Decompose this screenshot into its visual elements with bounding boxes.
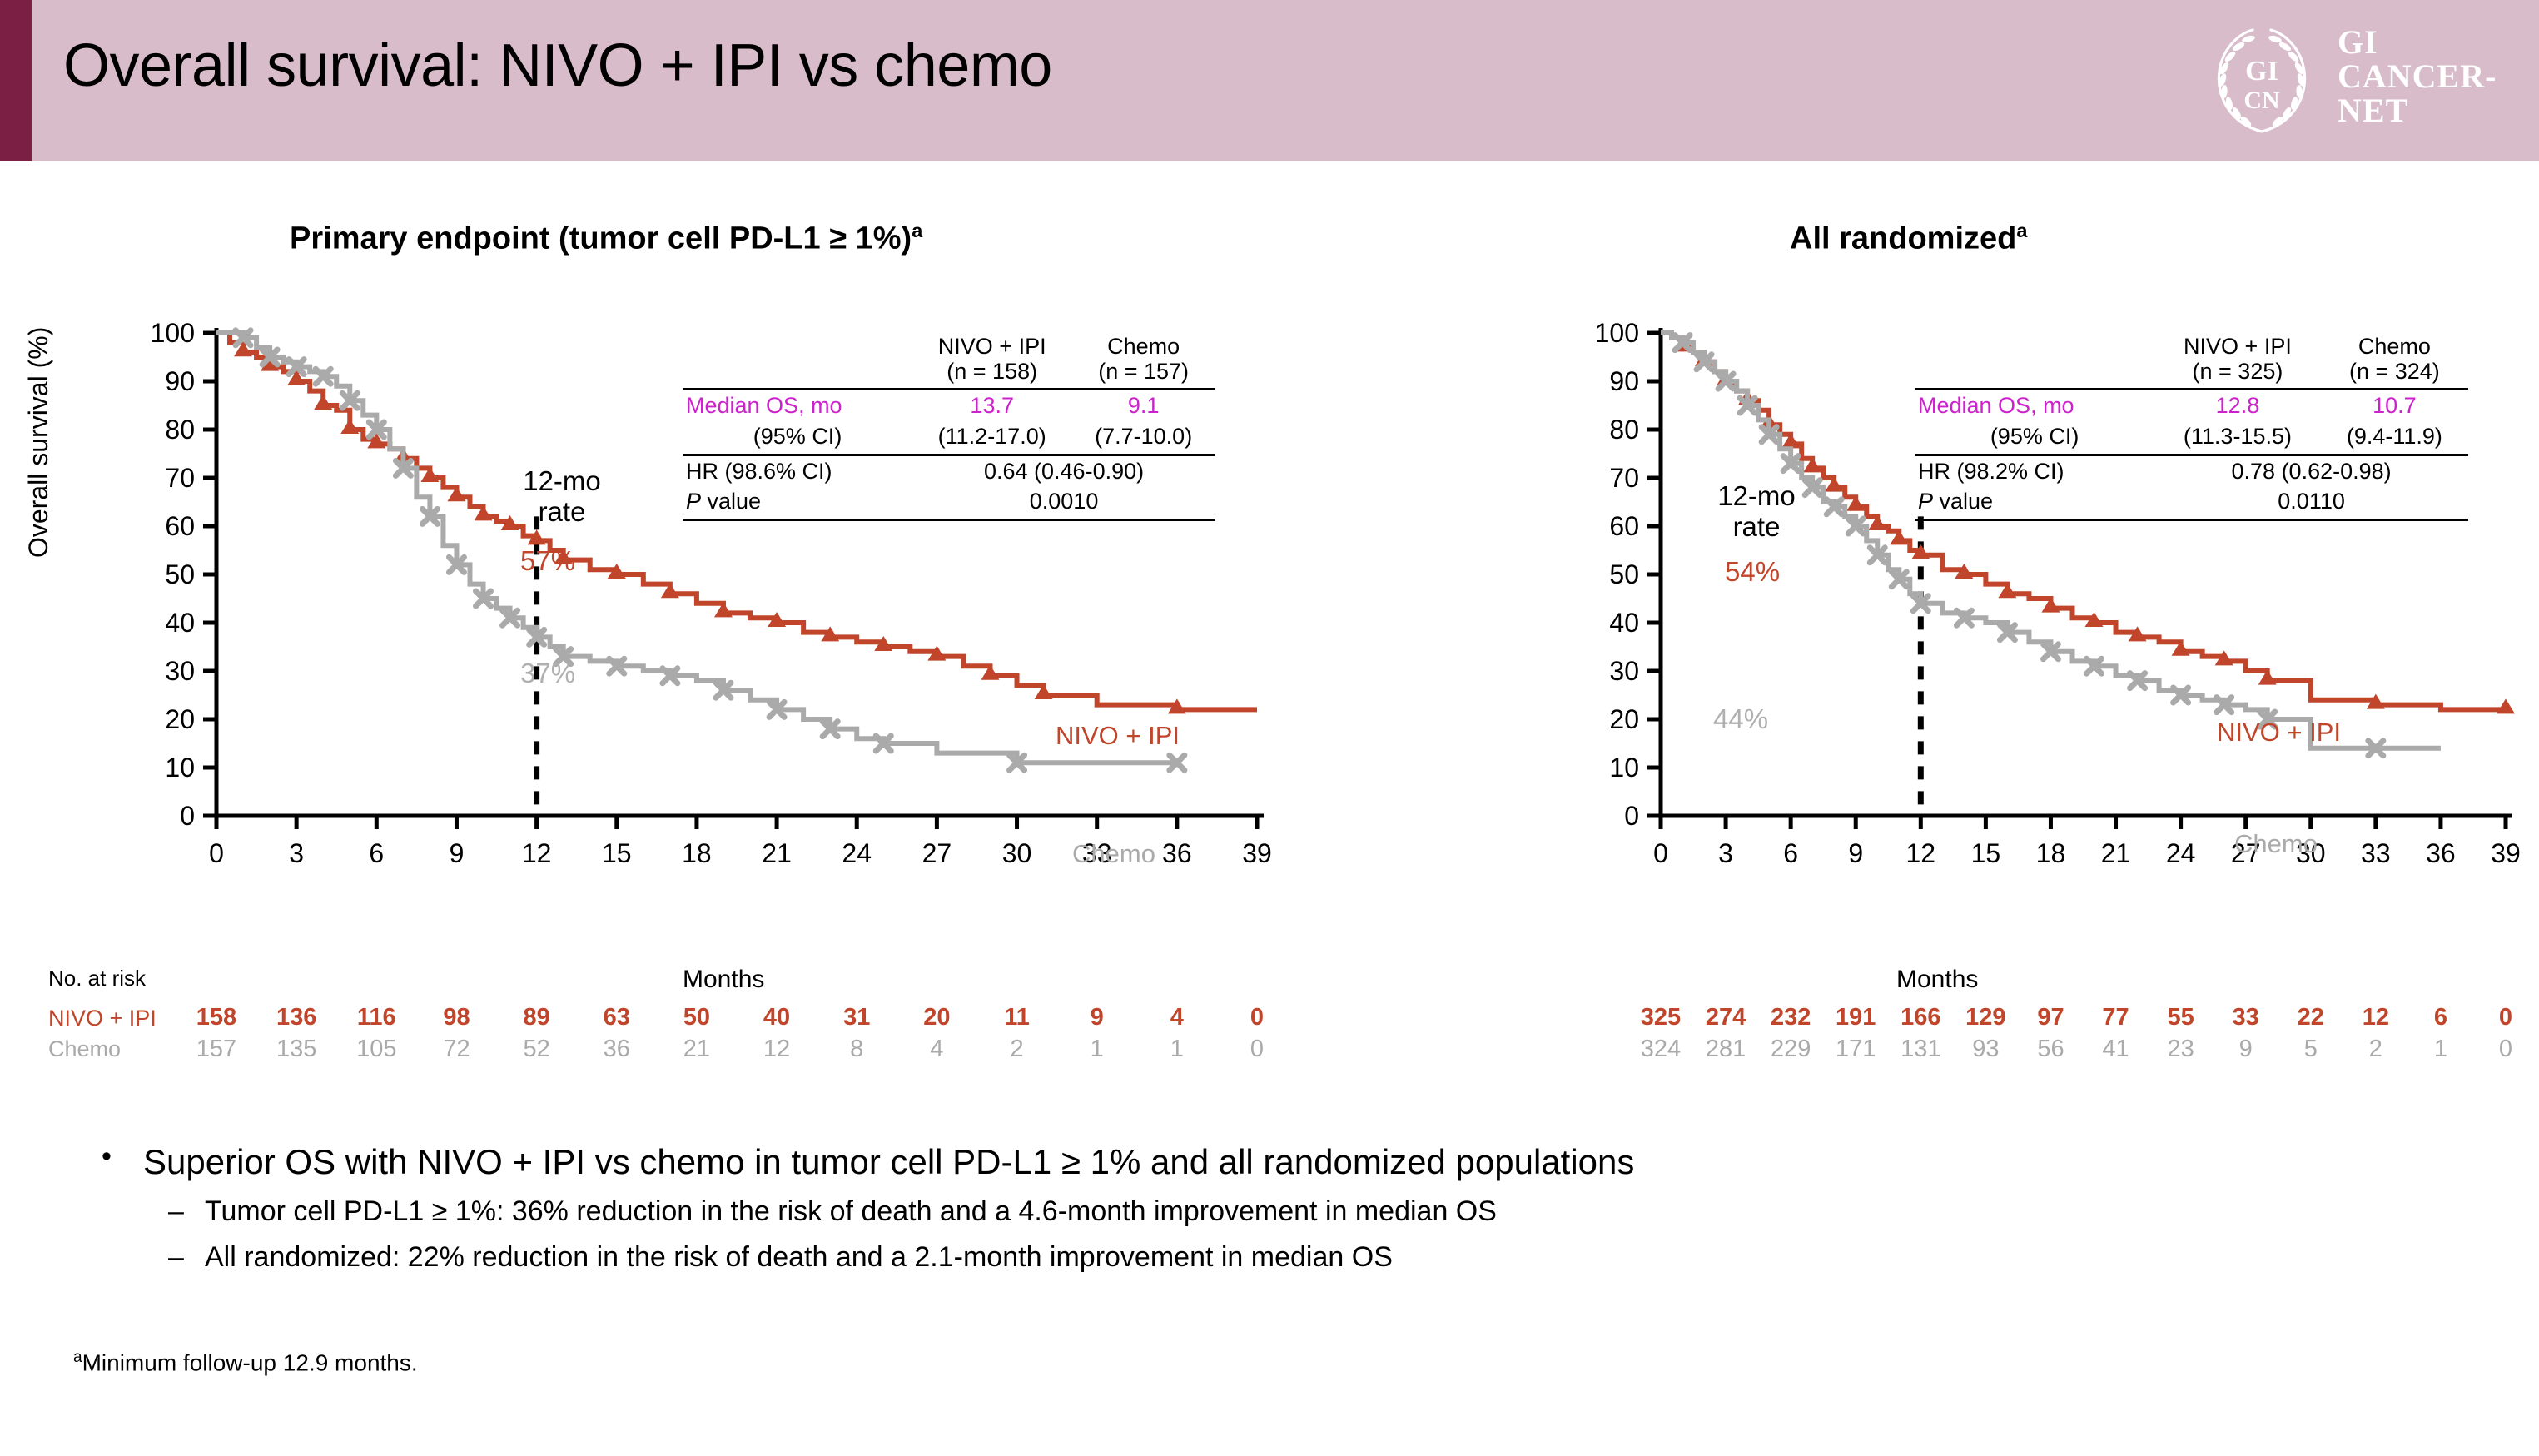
stats-header-chemo-name-right: Chemo <box>2358 334 2431 359</box>
svg-text:CN: CN <box>2243 87 2280 114</box>
stats-row-hr-right: HR (98.2% CI) 0.78 (0.62-0.98) <box>1915 455 2468 486</box>
x-tick-label: 24 <box>2166 838 2196 868</box>
stats-ci-label-right: (95% CI) <box>1915 421 2154 455</box>
risk-value-nivo: 129 <box>1965 1004 2005 1031</box>
x-tick-label: 39 <box>2491 838 2521 868</box>
bullet-list: Superior OS with NIVO + IPI vs chemo in … <box>92 1142 2339 1287</box>
risk-row-label-chemo: Chemo <box>48 1036 121 1062</box>
risk-value-nivo: 6 <box>2434 1004 2447 1031</box>
risk-value-chemo: 1 <box>1091 1036 1104 1063</box>
risk-value-nivo: 136 <box>276 1004 316 1031</box>
risk-value-chemo: 4 <box>930 1036 943 1063</box>
x-tick-label: 33 <box>2361 838 2391 868</box>
stats-median-os-chemo-left: 9.1 <box>1071 390 1215 421</box>
stats-ci-nivo-left: (11.2-17.0) <box>912 421 1071 455</box>
risk-value-nivo: 63 <box>604 1004 630 1031</box>
risk-value-chemo: 56 <box>2037 1036 2064 1063</box>
y-tick-label: 0 <box>1624 801 1639 831</box>
stats-pvalue-label-right: P value <box>1915 486 2154 520</box>
risk-value-nivo: 22 <box>2298 1004 2324 1031</box>
panel-title-left-superscript: a <box>912 220 922 241</box>
panel-title-right-superscript: a <box>2016 220 2027 241</box>
risk-value-nivo: 77 <box>2102 1004 2129 1031</box>
risk-value-nivo: 191 <box>1836 1004 1876 1031</box>
stats-header-nivo-name-left: NIVO + IPI <box>938 334 1046 359</box>
x-tick-label: 3 <box>289 838 304 868</box>
risk-value-nivo: 40 <box>763 1004 790 1031</box>
annotation-chemo-rate-left: 37% <box>520 658 575 689</box>
risk-value-nivo: 33 <box>2233 1004 2259 1031</box>
censor-marker-triangle <box>340 419 359 434</box>
gi-cancer-net-logo: GI CN GI CANCER- NET <box>2206 20 2514 145</box>
y-tick-label: 70 <box>1609 463 1639 493</box>
x-tick-label: 15 <box>602 838 632 868</box>
y-tick-label: 40 <box>1609 608 1639 638</box>
stats-pvalue-label-italic-right: P <box>1918 489 1933 514</box>
y-tick-label: 60 <box>1609 511 1639 541</box>
risk-value-chemo: 12 <box>763 1036 790 1063</box>
risk-value-nivo: 89 <box>523 1004 549 1031</box>
risk-value-nivo: 50 <box>683 1004 710 1031</box>
header-bar: Overall survival: NIVO + IPI vs chemo <box>0 0 2539 161</box>
risk-value-chemo: 105 <box>356 1036 396 1063</box>
stats-header-row-right: NIVO + IPI (n = 325) Chemo (n = 324) <box>1915 331 2468 390</box>
risk-value-chemo: 229 <box>1771 1036 1811 1063</box>
stats-pvalue-value-right: 0.0110 <box>2154 486 2468 520</box>
stats-pvalue-label-left: P value <box>683 486 912 520</box>
stats-hr-value-left: 0.64 (0.46-0.90) <box>912 455 1215 486</box>
x-tick-label: 36 <box>1162 838 1192 868</box>
x-tick-label: 27 <box>922 838 952 868</box>
curve-label-chemo-right: Chemo <box>2234 829 2318 859</box>
x-tick-label: 12 <box>1906 838 1936 868</box>
annotation-chemo-rate-right: 44% <box>1713 703 1768 735</box>
risk-value-chemo: 41 <box>2102 1036 2129 1063</box>
risk-value-chemo: 0 <box>1250 1036 1264 1063</box>
x-axis-label-left: Months <box>683 966 764 994</box>
risk-value-nivo: 31 <box>843 1004 870 1031</box>
y-tick-label: 20 <box>165 704 195 734</box>
panel-title-right: All randomizeda <box>1790 220 2027 257</box>
stats-header-nivo-left: NIVO + IPI (n = 158) <box>912 331 1071 390</box>
y-tick-label: 40 <box>165 608 195 638</box>
stats-median-os-label-left: Median OS, mo <box>683 390 912 421</box>
stats-header-chemo-n-right: (n = 324) <box>2349 359 2440 384</box>
risk-value-nivo: 158 <box>196 1004 236 1031</box>
annotation-12mo-rate-left: 12-mo rate <box>487 466 637 528</box>
risk-value-nivo: 0 <box>1250 1004 1264 1031</box>
page-title: Overall survival: NIVO + IPI vs chemo <box>63 32 1052 100</box>
risk-value-nivo: 0 <box>2499 1004 2512 1031</box>
bullet-sub-1: Tumor cell PD-L1 ≥ 1%: 36% reduction in … <box>92 1195 2339 1228</box>
footnote: aMinimum follow-up 12.9 months. <box>73 1349 418 1376</box>
logo-line-3: NET <box>2338 93 2497 127</box>
bullet-main: Superior OS with NIVO + IPI vs chemo in … <box>92 1142 2339 1182</box>
y-tick-label: 50 <box>165 559 195 589</box>
risk-value-chemo: 93 <box>1972 1036 1999 1063</box>
y-tick-label: 80 <box>165 415 195 445</box>
x-tick-label: 9 <box>450 838 465 868</box>
x-tick-label: 3 <box>1718 838 1733 868</box>
y-tick-label: 90 <box>1609 366 1639 396</box>
stats-header-blank-right <box>1915 331 2154 390</box>
annotation-nivo-rate-left: 57% <box>520 545 575 577</box>
risk-value-nivo: 98 <box>443 1004 470 1031</box>
stats-pvalue-label-rest-left: value <box>701 489 761 514</box>
panel-title-left-text: Primary endpoint (tumor cell PD-L1 ≥ 1%) <box>290 221 912 256</box>
stats-ci-chemo-right: (9.4-11.9) <box>2321 421 2468 455</box>
y-tick-label: 80 <box>1609 415 1639 445</box>
stats-header-nivo-name-right: NIVO + IPI <box>2184 334 2292 359</box>
svg-text:GI: GI <box>2245 56 2278 87</box>
y-axis-label-left: Overall survival (%) <box>23 327 54 558</box>
header-accent-stripe <box>0 0 32 161</box>
y-tick-label: 10 <box>165 753 195 783</box>
risk-value-chemo: 72 <box>443 1036 470 1063</box>
risk-value-chemo: 157 <box>196 1036 236 1063</box>
stats-pvalue-label-italic-left: P <box>686 489 701 514</box>
stats-pvalue-label-rest-right: value <box>1933 489 1993 514</box>
curve-label-nivo-left: NIVO + IPI <box>1056 721 1180 751</box>
risk-value-nivo: 12 <box>2363 1004 2389 1031</box>
footnote-text: Minimum follow-up 12.9 months. <box>82 1349 418 1375</box>
risk-value-nivo: 116 <box>357 1004 396 1031</box>
stats-ci-nivo-right: (11.3-15.5) <box>2154 421 2321 455</box>
y-tick-label: 0 <box>180 801 195 831</box>
stats-header-row-left: NIVO + IPI (n = 158) Chemo (n = 157) <box>683 331 1215 390</box>
logo-line-1: GI <box>2338 25 2497 59</box>
risk-value-nivo: 166 <box>1901 1004 1940 1031</box>
annotation-12mo-line2-left: rate <box>487 497 637 528</box>
risk-value-chemo: 281 <box>1706 1036 1746 1063</box>
risk-value-chemo: 131 <box>1901 1036 1940 1063</box>
risk-value-nivo: 274 <box>1706 1004 1746 1031</box>
stats-table-right: NIVO + IPI (n = 325) Chemo (n = 324) Med… <box>1915 331 2468 521</box>
curve-label-nivo-right: NIVO + IPI <box>2217 718 2341 748</box>
risk-value-nivo: 55 <box>2167 1004 2194 1031</box>
y-tick-label: 30 <box>165 656 195 686</box>
logo-wordmark: GI CANCER- NET <box>2338 25 2497 128</box>
risk-value-chemo: 324 <box>1641 1036 1681 1063</box>
stats-median-os-chemo-right: 10.7 <box>2321 390 2468 421</box>
logo-line-2: CANCER- <box>2338 59 2497 93</box>
stats-header-nivo-right: NIVO + IPI (n = 325) <box>2154 331 2321 390</box>
y-tick-label: 100 <box>151 318 195 348</box>
x-tick-label: 6 <box>369 838 384 868</box>
laurel-wreath-icon: GI CN <box>2206 25 2318 140</box>
stats-header-nivo-n-right: (n = 325) <box>2193 359 2283 384</box>
x-tick-label: 12 <box>522 838 552 868</box>
panel-title-right-text: All randomized <box>1790 221 2016 256</box>
risk-value-nivo: 97 <box>2037 1004 2064 1031</box>
stats-hr-label-right: HR (98.2% CI) <box>1915 455 2154 486</box>
risk-value-nivo: 20 <box>923 1004 950 1031</box>
x-tick-label: 21 <box>2101 838 2131 868</box>
y-tick-label: 70 <box>165 463 195 493</box>
x-tick-label: 6 <box>1783 838 1798 868</box>
x-tick-label: 36 <box>2426 838 2456 868</box>
footnote-superscript: a <box>73 1349 82 1366</box>
x-tick-label: 9 <box>1848 838 1863 868</box>
annotation-12mo-rate-right: 12-mo rate <box>1682 481 1831 543</box>
x-tick-label: 18 <box>682 838 712 868</box>
annotation-12mo-line1-left: 12-mo <box>487 466 637 497</box>
stats-median-os-nivo-right: 12.8 <box>2154 390 2321 421</box>
stats-header-chemo-left: Chemo (n = 157) <box>1071 331 1215 390</box>
stats-row-ci-right: (95% CI) (11.3-15.5) (9.4-11.9) <box>1915 421 2468 455</box>
risk-value-chemo: 23 <box>2167 1036 2194 1063</box>
y-tick-label: 60 <box>165 511 195 541</box>
stats-median-os-nivo-left: 13.7 <box>912 390 1071 421</box>
x-tick-label: 30 <box>1002 838 1032 868</box>
bullet-sub-2: All randomized: 22% reduction in the ris… <box>92 1241 2339 1274</box>
annotation-12mo-line1-right: 12-mo <box>1682 481 1831 512</box>
risk-value-chemo: 9 <box>2239 1036 2253 1063</box>
risk-value-nivo: 232 <box>1771 1004 1811 1031</box>
x-tick-label: 15 <box>1971 838 2001 868</box>
risk-value-chemo: 135 <box>276 1036 316 1063</box>
panel-title-left: Primary endpoint (tumor cell PD-L1 ≥ 1%)… <box>290 220 922 257</box>
stats-ci-label-left: (95% CI) <box>683 421 912 455</box>
risk-value-nivo: 9 <box>1091 1004 1104 1031</box>
risk-value-chemo: 5 <box>2304 1036 2318 1063</box>
risk-value-nivo: 11 <box>1004 1004 1030 1031</box>
risk-value-chemo: 36 <box>604 1036 630 1063</box>
x-tick-label: 0 <box>1653 838 1668 868</box>
stats-row-hr-left: HR (98.6% CI) 0.64 (0.46-0.90) <box>683 455 1215 486</box>
risk-value-chemo: 1 <box>2434 1036 2447 1063</box>
risk-value-chemo: 52 <box>523 1036 549 1063</box>
x-tick-label: 0 <box>209 838 224 868</box>
stats-row-ci-left: (95% CI) (11.2-17.0) (7.7-10.0) <box>683 421 1215 455</box>
censor-marker-triangle <box>314 395 332 410</box>
stats-hr-value-right: 0.78 (0.62-0.98) <box>2154 455 2468 486</box>
risk-row-label-nivo: NIVO + IPI <box>48 1006 157 1031</box>
risk-value-chemo: 8 <box>850 1036 863 1063</box>
stats-row-pvalue-left: P value 0.0010 <box>683 486 1215 520</box>
y-tick-label: 20 <box>1609 704 1639 734</box>
y-tick-label: 50 <box>1609 559 1639 589</box>
stats-row-pvalue-right: P value 0.0110 <box>1915 486 2468 520</box>
y-tick-label: 100 <box>1595 318 1639 348</box>
risk-table-heading: No. at risk <box>48 966 146 991</box>
stats-header-nivo-n-left: (n = 158) <box>947 359 1037 384</box>
stats-header-blank-left <box>683 331 912 390</box>
y-tick-label: 10 <box>1609 753 1639 783</box>
annotation-nivo-rate-right: 54% <box>1725 556 1780 588</box>
risk-value-chemo: 0 <box>2499 1036 2512 1063</box>
curve-label-chemo-left: Chemo <box>1072 839 1155 869</box>
x-tick-label: 24 <box>842 838 872 868</box>
risk-value-chemo: 2 <box>1010 1036 1023 1063</box>
stats-row-median-os-left: Median OS, mo 13.7 9.1 <box>683 390 1215 421</box>
x-tick-label: 18 <box>2036 838 2066 868</box>
risk-value-chemo: 1 <box>1170 1036 1184 1063</box>
stats-pvalue-value-left: 0.0010 <box>912 486 1215 520</box>
stats-hr-label-left: HR (98.6% CI) <box>683 455 912 486</box>
annotation-12mo-line2-right: rate <box>1682 512 1831 543</box>
stats-row-median-os-right: Median OS, mo 12.8 10.7 <box>1915 390 2468 421</box>
x-tick-label: 39 <box>1242 838 1272 868</box>
stats-ci-chemo-left: (7.7-10.0) <box>1071 421 1215 455</box>
x-axis-label-right: Months <box>1896 966 1978 994</box>
risk-value-nivo: 4 <box>1170 1004 1184 1031</box>
risk-value-chemo: 2 <box>2369 1036 2382 1063</box>
y-tick-label: 30 <box>1609 656 1639 686</box>
stats-header-chemo-right: Chemo (n = 324) <box>2321 331 2468 390</box>
stats-header-chemo-name-left: Chemo <box>1107 334 1180 359</box>
stats-table-left: NIVO + IPI (n = 158) Chemo (n = 157) Med… <box>683 331 1215 521</box>
stats-header-chemo-n-left: (n = 157) <box>1098 359 1189 384</box>
y-tick-label: 90 <box>165 366 195 396</box>
risk-value-nivo: 325 <box>1641 1004 1681 1031</box>
stats-median-os-label-right: Median OS, mo <box>1915 390 2154 421</box>
x-tick-label: 21 <box>762 838 792 868</box>
censor-marker-triangle <box>2497 698 2515 713</box>
risk-value-chemo: 171 <box>1836 1036 1876 1063</box>
risk-value-chemo: 21 <box>683 1036 710 1063</box>
